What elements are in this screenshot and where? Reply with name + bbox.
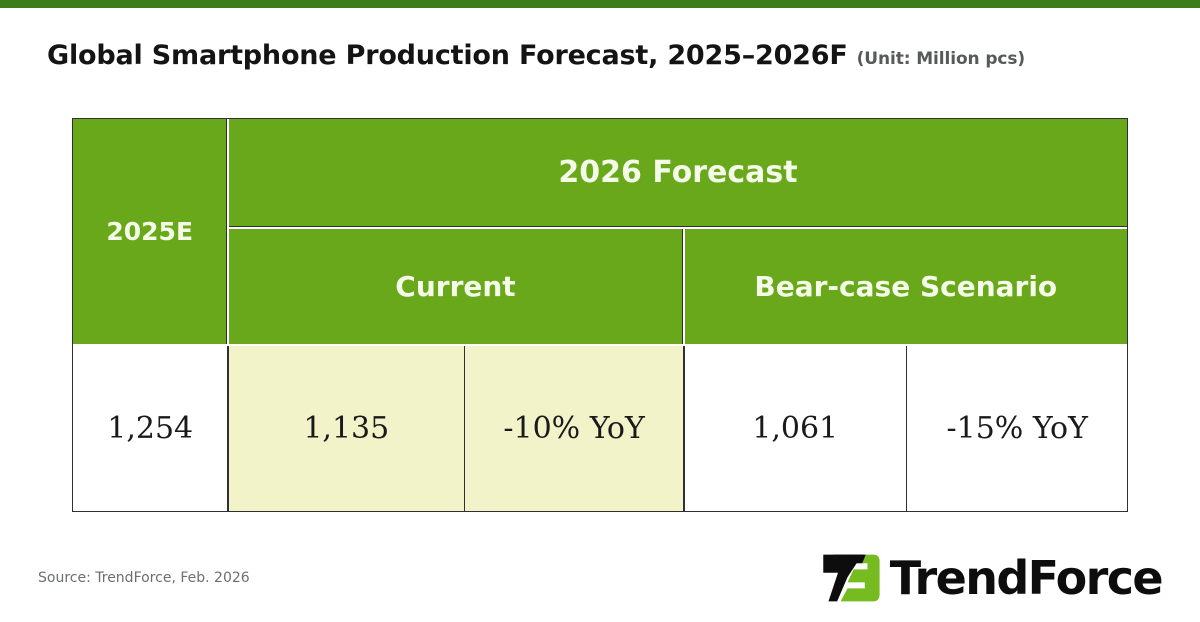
cell-current-yoy: -10% YoY — [465, 346, 683, 511]
cell-2025e-value: 1,254 — [73, 346, 227, 511]
cell-separator-4 — [906, 346, 908, 511]
source-note: Source: TrendForce, Feb. 2026 — [38, 570, 250, 586]
cell-bear-yoy: -15% YoY — [907, 346, 1127, 511]
table-row: TrendForce 1,254 1,135 -10% YoY 1,061 -1… — [73, 346, 1127, 511]
cell-separator-2 — [464, 346, 466, 511]
title-main-text: Global Smartphone Production Forecast, 2… — [47, 40, 848, 71]
title-unit-text: (Unit: Million pcs) — [857, 49, 1026, 69]
header-2025e: 2025E — [73, 119, 227, 344]
header-bear-case: Bear-case Scenario — [685, 229, 1127, 344]
forecast-table: 2025E 2026 Forecast Current Bear-case Sc… — [72, 118, 1128, 512]
cell-separator-3 — [683, 346, 685, 511]
header-2026-forecast: 2026 Forecast — [229, 119, 1127, 227]
cell-current-value: 1,135 — [229, 346, 464, 511]
top-accent-bar — [0, 0, 1200, 8]
trendforce-logo-text: TrendForce — [890, 555, 1162, 601]
trendforce-logo-icon — [820, 552, 882, 604]
header-current: Current — [229, 229, 683, 344]
cell-separator-1 — [227, 346, 229, 511]
infographic-root: Global Smartphone Production Forecast, 2… — [0, 0, 1200, 622]
cell-bear-value: 1,061 — [685, 346, 906, 511]
trendforce-logo: TrendForce — [820, 550, 1162, 606]
page-title: Global Smartphone Production Forecast, 2… — [47, 40, 1167, 84]
